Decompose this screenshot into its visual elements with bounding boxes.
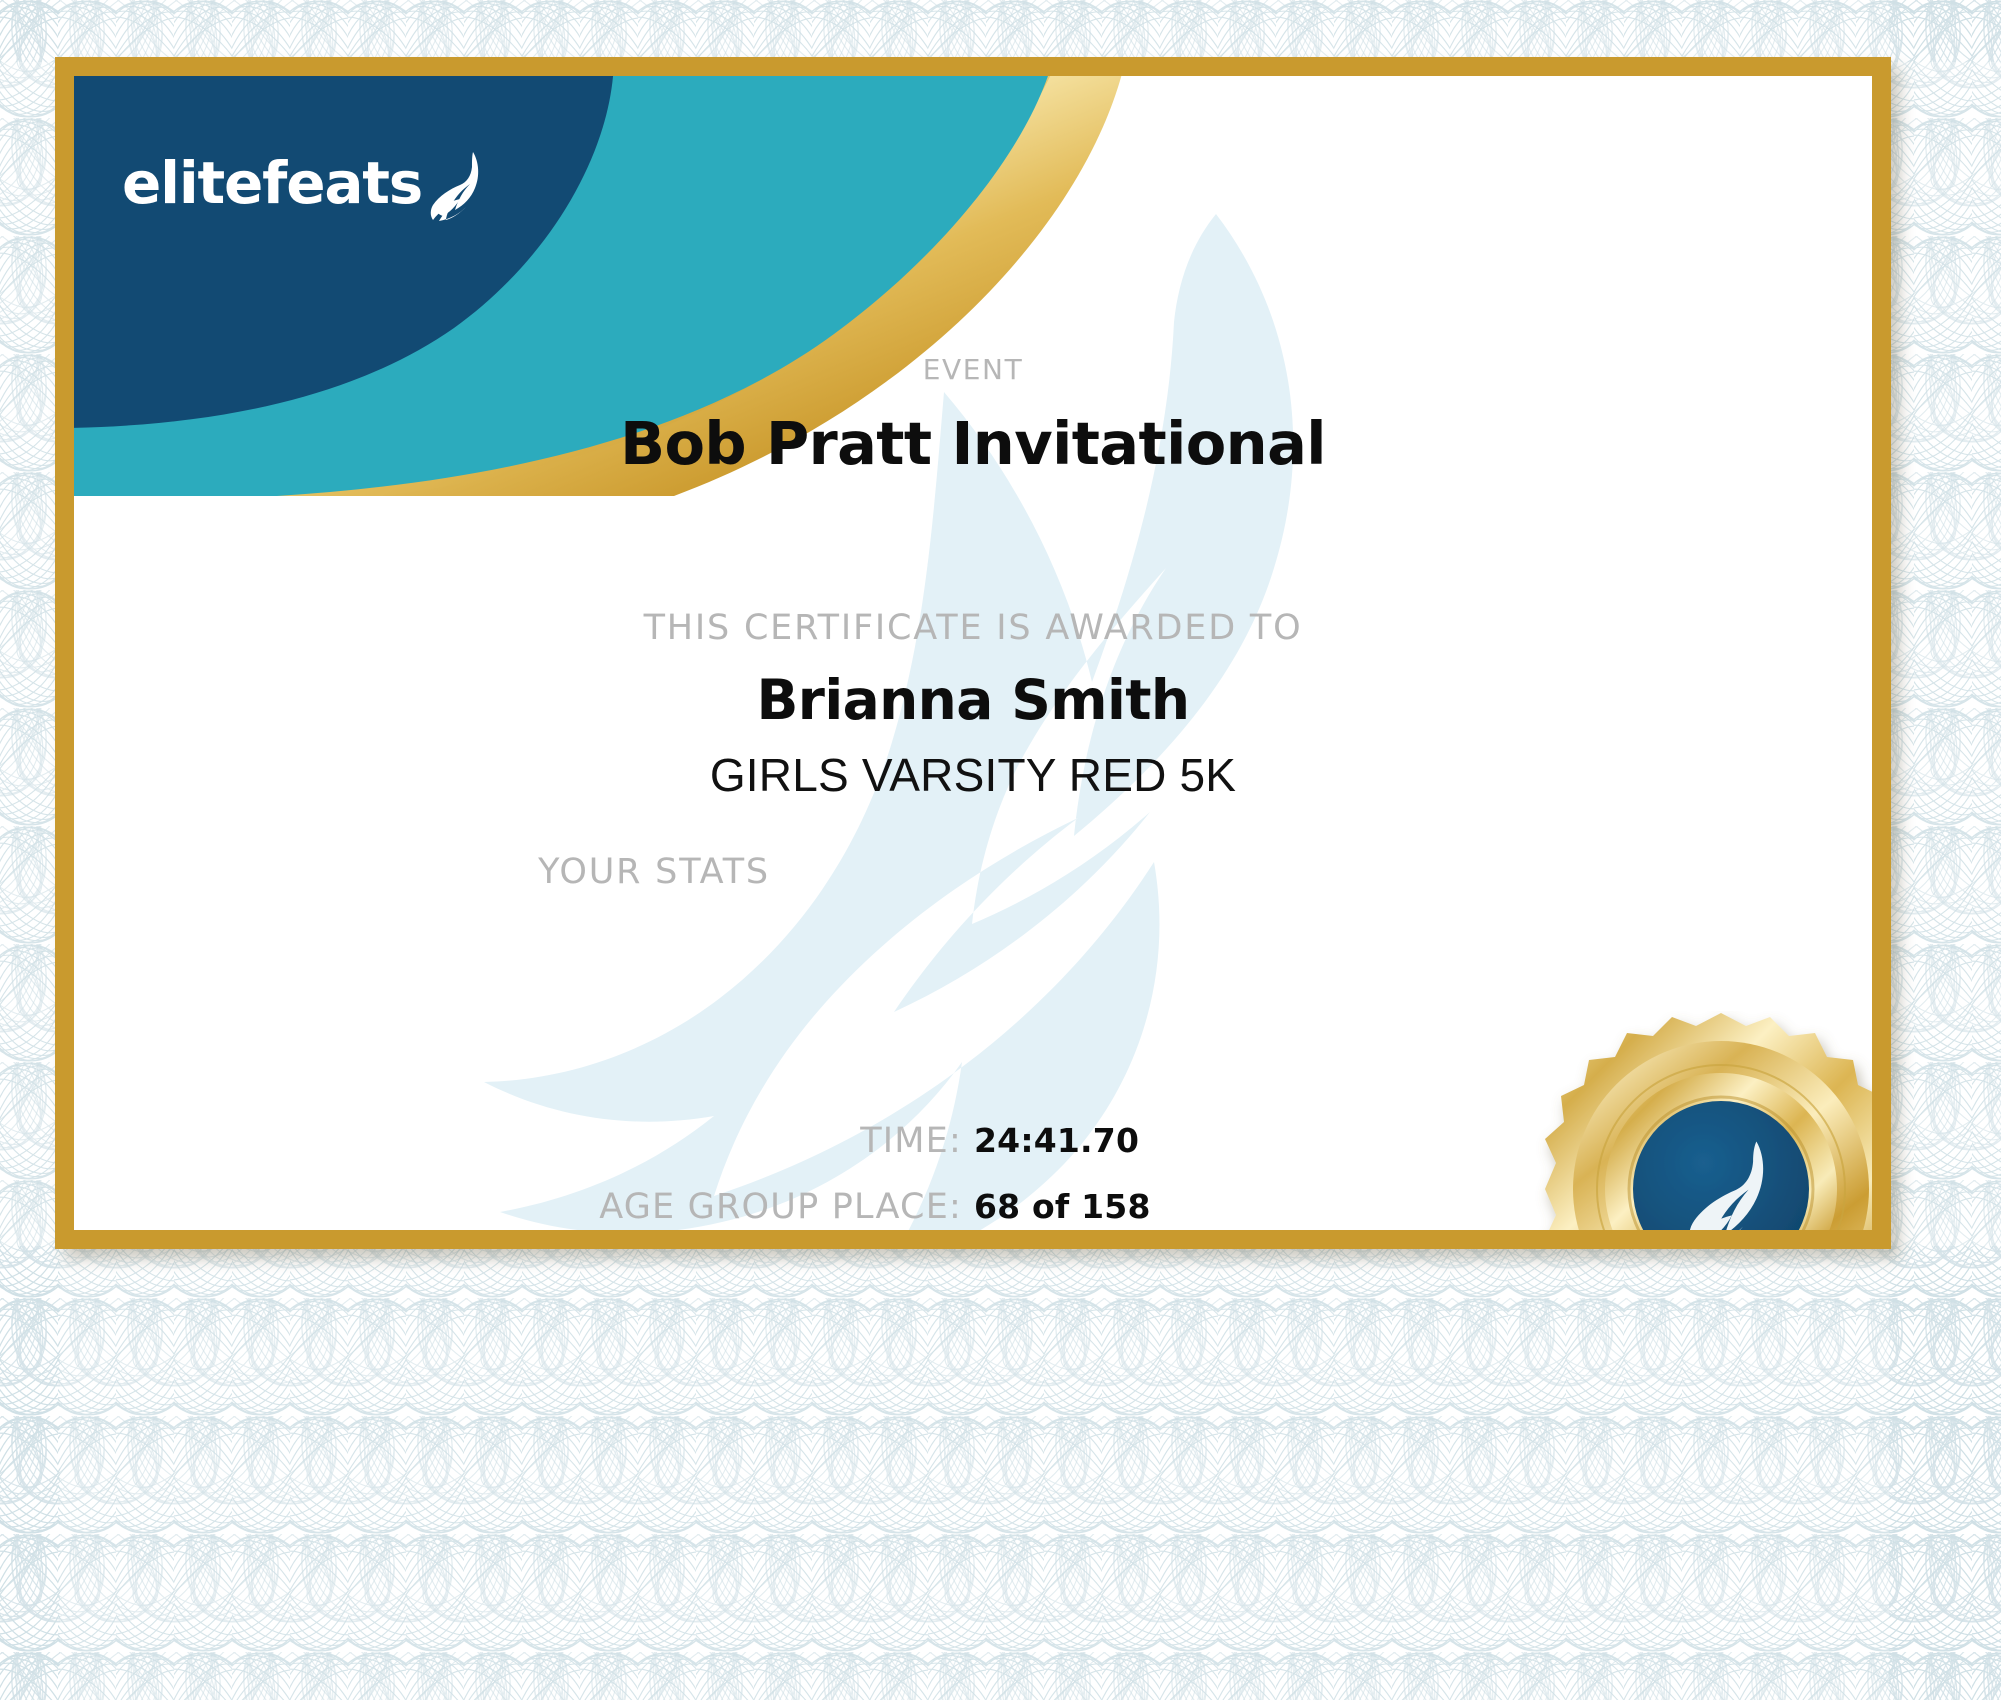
event-label-block: EVENT <box>74 353 1872 386</box>
division-name: GIRLS VARSITY RED 5K <box>710 749 1236 801</box>
certificate-card: elitefeats EVENT Bob Pratt Invitational <box>55 57 1891 1249</box>
stats-list: TIME: 24:41.70 AGE GROUP PLACE: 68 of 15… <box>74 1121 1234 1230</box>
event-name-block: Bob Pratt Invitational <box>74 409 1872 478</box>
awarded-to-label-block: THIS CERTIFICATE IS AWARDED TO <box>74 608 1872 648</box>
gold-medal-seal-icon: 2025 <box>1529 1011 1872 1230</box>
event-label: EVENT <box>923 353 1024 386</box>
stats-heading: YOUR STATS <box>538 852 770 892</box>
stat-row-time: TIME: 24:41.70 <box>74 1121 1234 1161</box>
awarded-to-label: THIS CERTIFICATE IS AWARDED TO <box>644 608 1303 648</box>
event-name: Bob Pratt Invitational <box>620 409 1326 478</box>
stats-heading-block: YOUR STATS <box>74 852 1234 892</box>
stat-label-time: TIME: <box>860 1121 962 1161</box>
stat-value-age-group-place: 68 of 158 <box>974 1187 1234 1226</box>
certificate-inner: elitefeats EVENT Bob Pratt Invitational <box>74 76 1872 1230</box>
stat-value-time: 24:41.70 <box>974 1121 1234 1160</box>
finisher-seal: 2025 FINISHER CERTIFICATE <box>1529 1011 1872 1230</box>
stat-row-age-group-place: AGE GROUP PLACE: 68 of 158 <box>74 1187 1234 1227</box>
recipient-name: Brianna Smith <box>756 668 1189 732</box>
winged-foot-icon <box>426 150 488 222</box>
recipient-name-block: Brianna Smith <box>74 668 1872 732</box>
certificate-page: elitefeats EVENT Bob Pratt Invitational <box>0 0 2001 1700</box>
division-block: GIRLS VARSITY RED 5K <box>74 748 1872 802</box>
brand-logo: elitefeats <box>122 144 488 222</box>
stat-label-age-group-place: AGE GROUP PLACE: <box>599 1187 962 1227</box>
brand-wordmark: elitefeats <box>122 154 422 212</box>
